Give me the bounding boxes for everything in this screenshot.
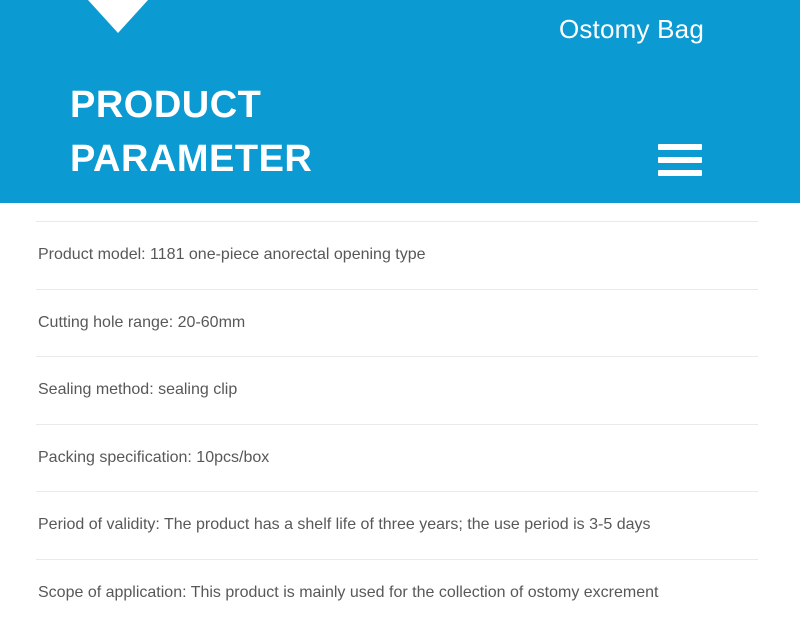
spec-row-text: Product model: 1181 one-piece anorectal … [36,244,426,266]
table-row: Sealing method: sealing clip [36,356,758,424]
table-row: Scope of application: This product is ma… [36,559,758,627]
table-row: Packing specification: 10pcs/box [36,424,758,492]
table-row: Cutting hole range: 20-60mm [36,289,758,357]
spec-row-text: Packing specification: 10pcs/box [36,447,269,469]
spec-row-text: Cutting hole range: 20-60mm [36,312,245,334]
hamburger-bar-top [658,144,702,150]
hamburger-bar-bottom [658,170,702,176]
hamburger-menu-icon[interactable] [658,144,702,176]
spec-table: Product model: 1181 one-piece anorectal … [0,203,800,626]
page-title: PRODUCT PARAMETER [70,78,490,186]
triangle-down-icon [88,0,148,33]
page-header: Ostomy Bag PRODUCT PARAMETER [0,0,800,203]
product-parameter-page: Ostomy Bag PRODUCT PARAMETER Product mod… [0,0,800,640]
spec-row-text: Sealing method: sealing clip [36,379,237,401]
spec-row-text: Scope of application: This product is ma… [36,582,658,604]
page-title-line-2: PARAMETER [70,132,490,186]
page-title-line-1: PRODUCT [70,78,490,132]
hamburger-bar-middle [658,157,702,163]
table-row: Product model: 1181 one-piece anorectal … [36,221,758,289]
spec-row-text: Period of validity: The product has a sh… [36,514,650,536]
brand-title: Ostomy Bag [559,16,704,42]
table-row: Period of validity: The product has a sh… [36,491,758,559]
